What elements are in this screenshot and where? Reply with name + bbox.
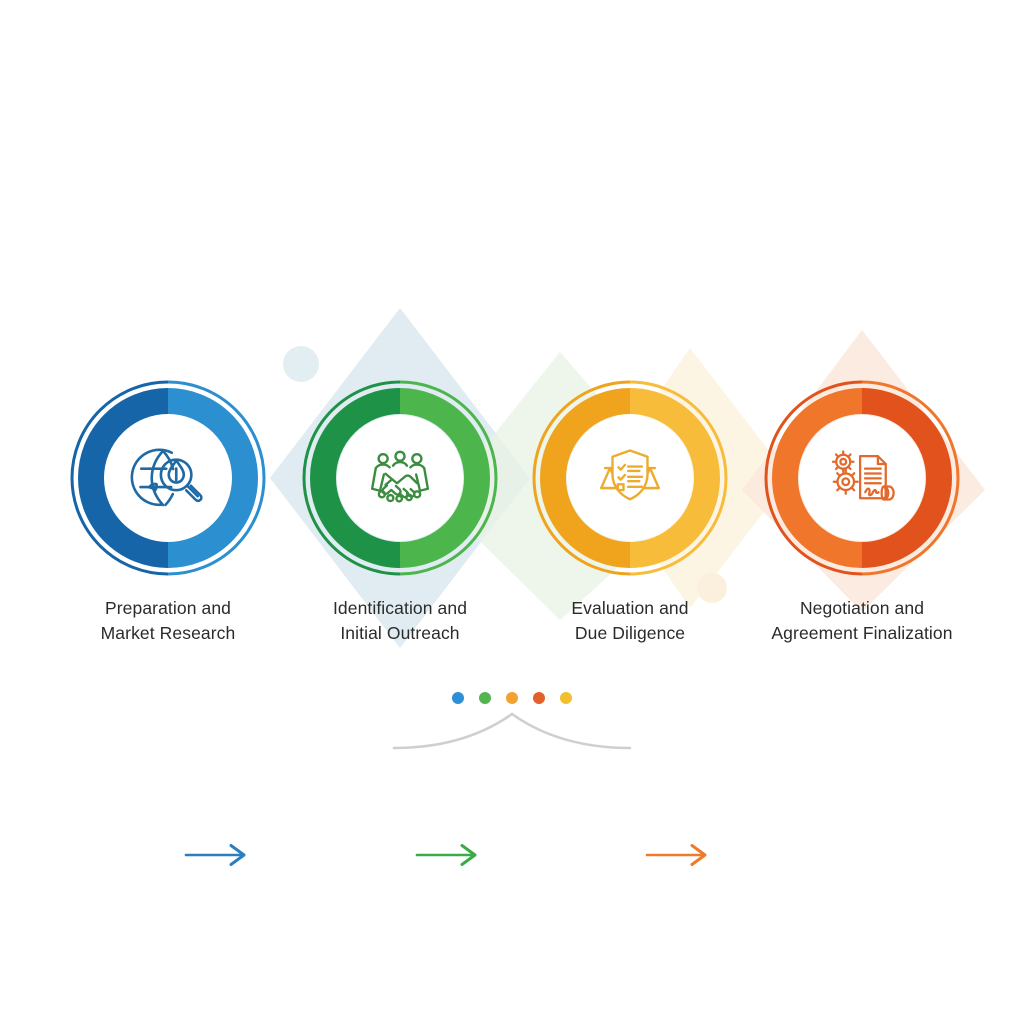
step-labels-row: Preparation and Market Research Identifi…: [0, 596, 1024, 656]
step-2-label-line1: Identification and: [333, 598, 467, 618]
footer-dot-red-orange: [533, 692, 545, 704]
step-1-label-line2: Market Research: [38, 621, 298, 646]
arrow-step-1-to-2: [184, 840, 260, 870]
footer-decorative-curve: [392, 708, 632, 754]
step-2-label-line2: Initial Outreach: [270, 621, 530, 646]
globe-magnifier-leaf-icon: [128, 438, 208, 518]
step-2[interactable]: [300, 378, 500, 578]
step-1[interactable]: [68, 378, 268, 578]
process-steps-row: [0, 378, 1024, 578]
footer-dot-yellow: [560, 692, 572, 704]
gears-contract-signature-icon: [822, 438, 902, 518]
footer-dots-row: [0, 688, 1024, 708]
footer-dot-green: [479, 692, 491, 704]
bg-circle-blue: [283, 346, 319, 382]
infographic-canvas: Preparation and Market Research Identifi…: [0, 0, 1024, 1024]
step-4-label-line1: Negotiation and: [800, 598, 924, 618]
step-4[interactable]: [762, 378, 962, 578]
step-3-label-line2: Due Diligence: [500, 621, 760, 646]
arrow-step-2-to-3: [415, 840, 491, 870]
footer-dot-blue: [452, 692, 464, 704]
step-1-label-line1: Preparation and: [105, 598, 231, 618]
shield-checklist-scales-icon: [590, 438, 670, 518]
step-2-label: Identification and Initial Outreach: [270, 596, 530, 646]
arrow-step-3-to-4: [645, 840, 721, 870]
step-4-label-line2: Agreement Finalization: [732, 621, 992, 646]
step-1-label: Preparation and Market Research: [38, 596, 298, 646]
handshake-people-icon: [360, 438, 440, 518]
step-4-label: Negotiation and Agreement Finalization: [732, 596, 992, 646]
step-3-label-line1: Evaluation and: [571, 598, 688, 618]
step-3-label: Evaluation and Due Diligence: [500, 596, 760, 646]
footer-dot-orange: [506, 692, 518, 704]
step-3[interactable]: [530, 378, 730, 578]
